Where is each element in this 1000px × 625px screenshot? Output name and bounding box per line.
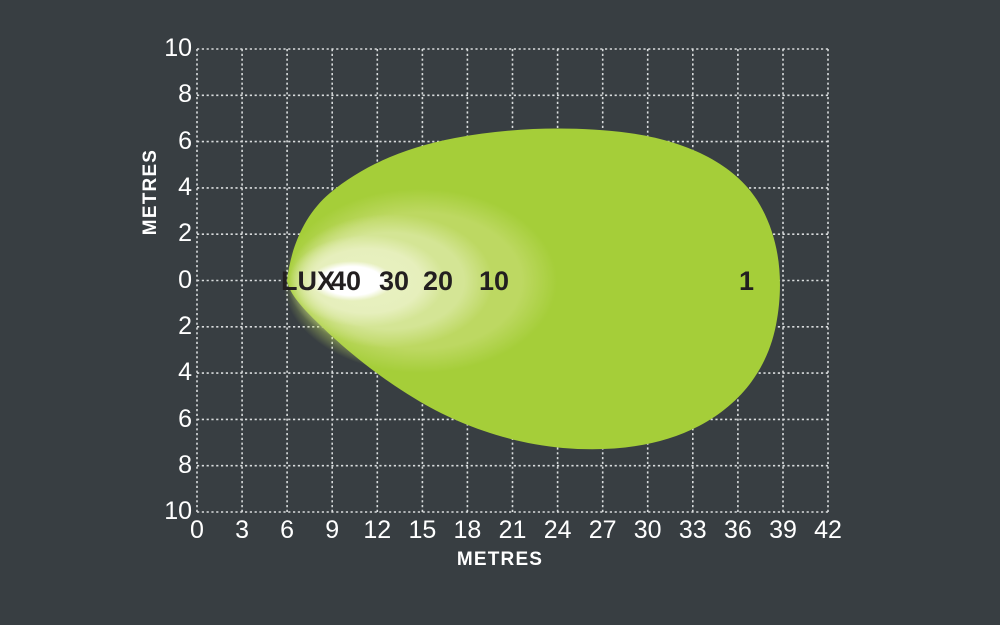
x-tick-label: 24 bbox=[536, 518, 580, 543]
annotation-40-lux: 40 bbox=[331, 268, 361, 295]
x-tick-label: 36 bbox=[716, 518, 760, 543]
x-tick-label: 39 bbox=[761, 518, 805, 543]
x-tick-label: 42 bbox=[806, 518, 850, 543]
y-tick-label: 8 bbox=[152, 82, 192, 107]
x-tick-label: 33 bbox=[671, 518, 715, 543]
x-tick-label: 21 bbox=[491, 518, 535, 543]
x-tick-label: 0 bbox=[175, 518, 219, 543]
annotation-1-lux: 1 bbox=[739, 268, 754, 295]
y-tick-label: 2 bbox=[152, 314, 192, 339]
x-axis-title: METRES bbox=[0, 549, 1000, 571]
annotation-20-lux: 20 bbox=[423, 268, 453, 295]
y-tick-label: 4 bbox=[152, 360, 192, 385]
annotation-30-lux: 30 bbox=[379, 268, 409, 295]
x-tick-label: 18 bbox=[445, 518, 489, 543]
x-tick-label: 12 bbox=[355, 518, 399, 543]
y-tick-label: 10 bbox=[152, 36, 192, 61]
y-tick-label: 8 bbox=[152, 453, 192, 478]
x-tick-label: 15 bbox=[400, 518, 444, 543]
annotation-lux: LUX bbox=[281, 268, 335, 295]
x-tick-label: 3 bbox=[220, 518, 264, 543]
x-tick-label: 9 bbox=[310, 518, 354, 543]
annotation-10-lux: 10 bbox=[479, 268, 509, 295]
y-tick-label: 6 bbox=[152, 407, 192, 432]
x-tick-label: 6 bbox=[265, 518, 309, 543]
x-tick-label: 30 bbox=[626, 518, 670, 543]
x-tick-label: 27 bbox=[581, 518, 625, 543]
y-axis-title: METRES bbox=[140, 112, 162, 272]
beam-pattern-chart: 10 8 6 4 2 0 2 4 6 8 10 0 3 6 9 12 15 18… bbox=[0, 0, 1000, 625]
